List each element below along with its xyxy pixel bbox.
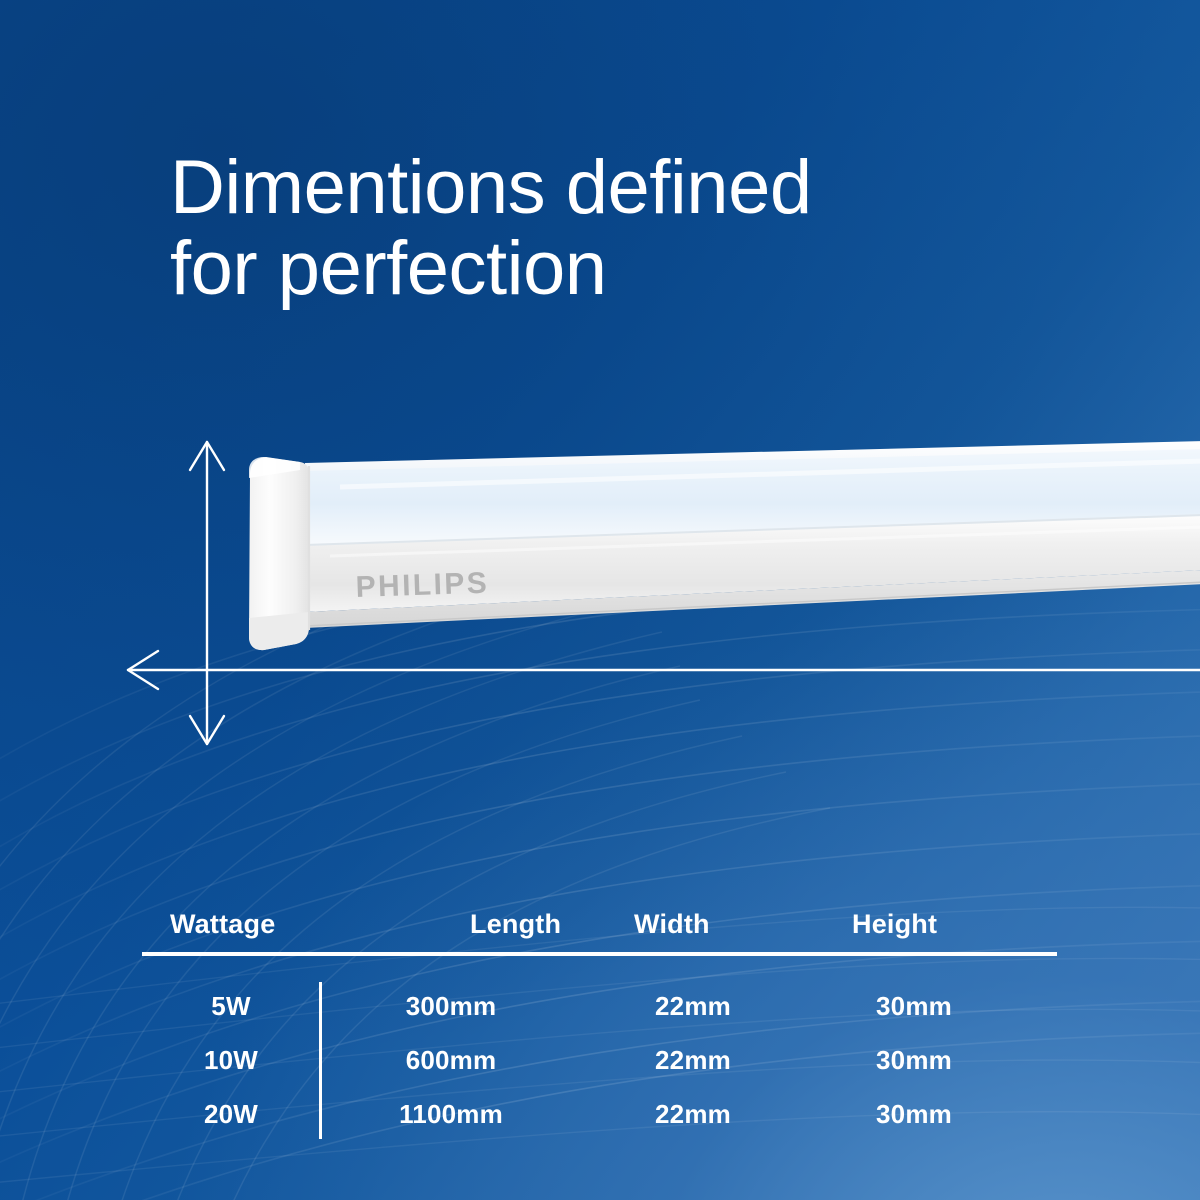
cell-wattage: 10W <box>142 1045 320 1076</box>
cell-height: 30mm <box>804 1045 1024 1076</box>
cell-width: 22mm <box>582 1045 804 1076</box>
column-header-width: Width <box>582 909 804 940</box>
cell-width: 22mm <box>582 1099 804 1130</box>
cell-length: 1100mm <box>320 1099 582 1130</box>
cell-wattage: 5W <box>142 991 320 1022</box>
table-body: 5W 300mm 22mm 30mm 10W 600mm 22mm 30mm 2… <box>142 978 1057 1142</box>
cell-width: 22mm <box>582 991 804 1022</box>
cell-length: 600mm <box>320 1045 582 1076</box>
cell-wattage: 20W <box>142 1099 320 1130</box>
cell-height: 30mm <box>804 991 1024 1022</box>
column-header-height: Height <box>804 909 1024 940</box>
column-header-wattage: Wattage <box>142 909 320 940</box>
table-header-divider <box>142 952 1057 956</box>
table-row: 20W 1100mm 22mm 30mm <box>142 1086 1057 1142</box>
column-header-length: Length <box>320 909 582 940</box>
dimension-arrows <box>0 0 1200 820</box>
table-row: 5W 300mm 22mm 30mm <box>142 978 1057 1034</box>
product-dimension-illustration: PHILIPS <box>0 0 1200 820</box>
poster-canvas: Dimentions defined for perfection <box>0 0 1200 1200</box>
table-header-row: Wattage Length Width Height <box>142 893 1057 955</box>
specifications-table: Wattage Length Width Height <box>142 893 1057 955</box>
cell-height: 30mm <box>804 1099 1024 1130</box>
table-row: 10W 600mm 22mm 30mm <box>142 1034 1057 1086</box>
cell-length: 300mm <box>320 991 582 1022</box>
